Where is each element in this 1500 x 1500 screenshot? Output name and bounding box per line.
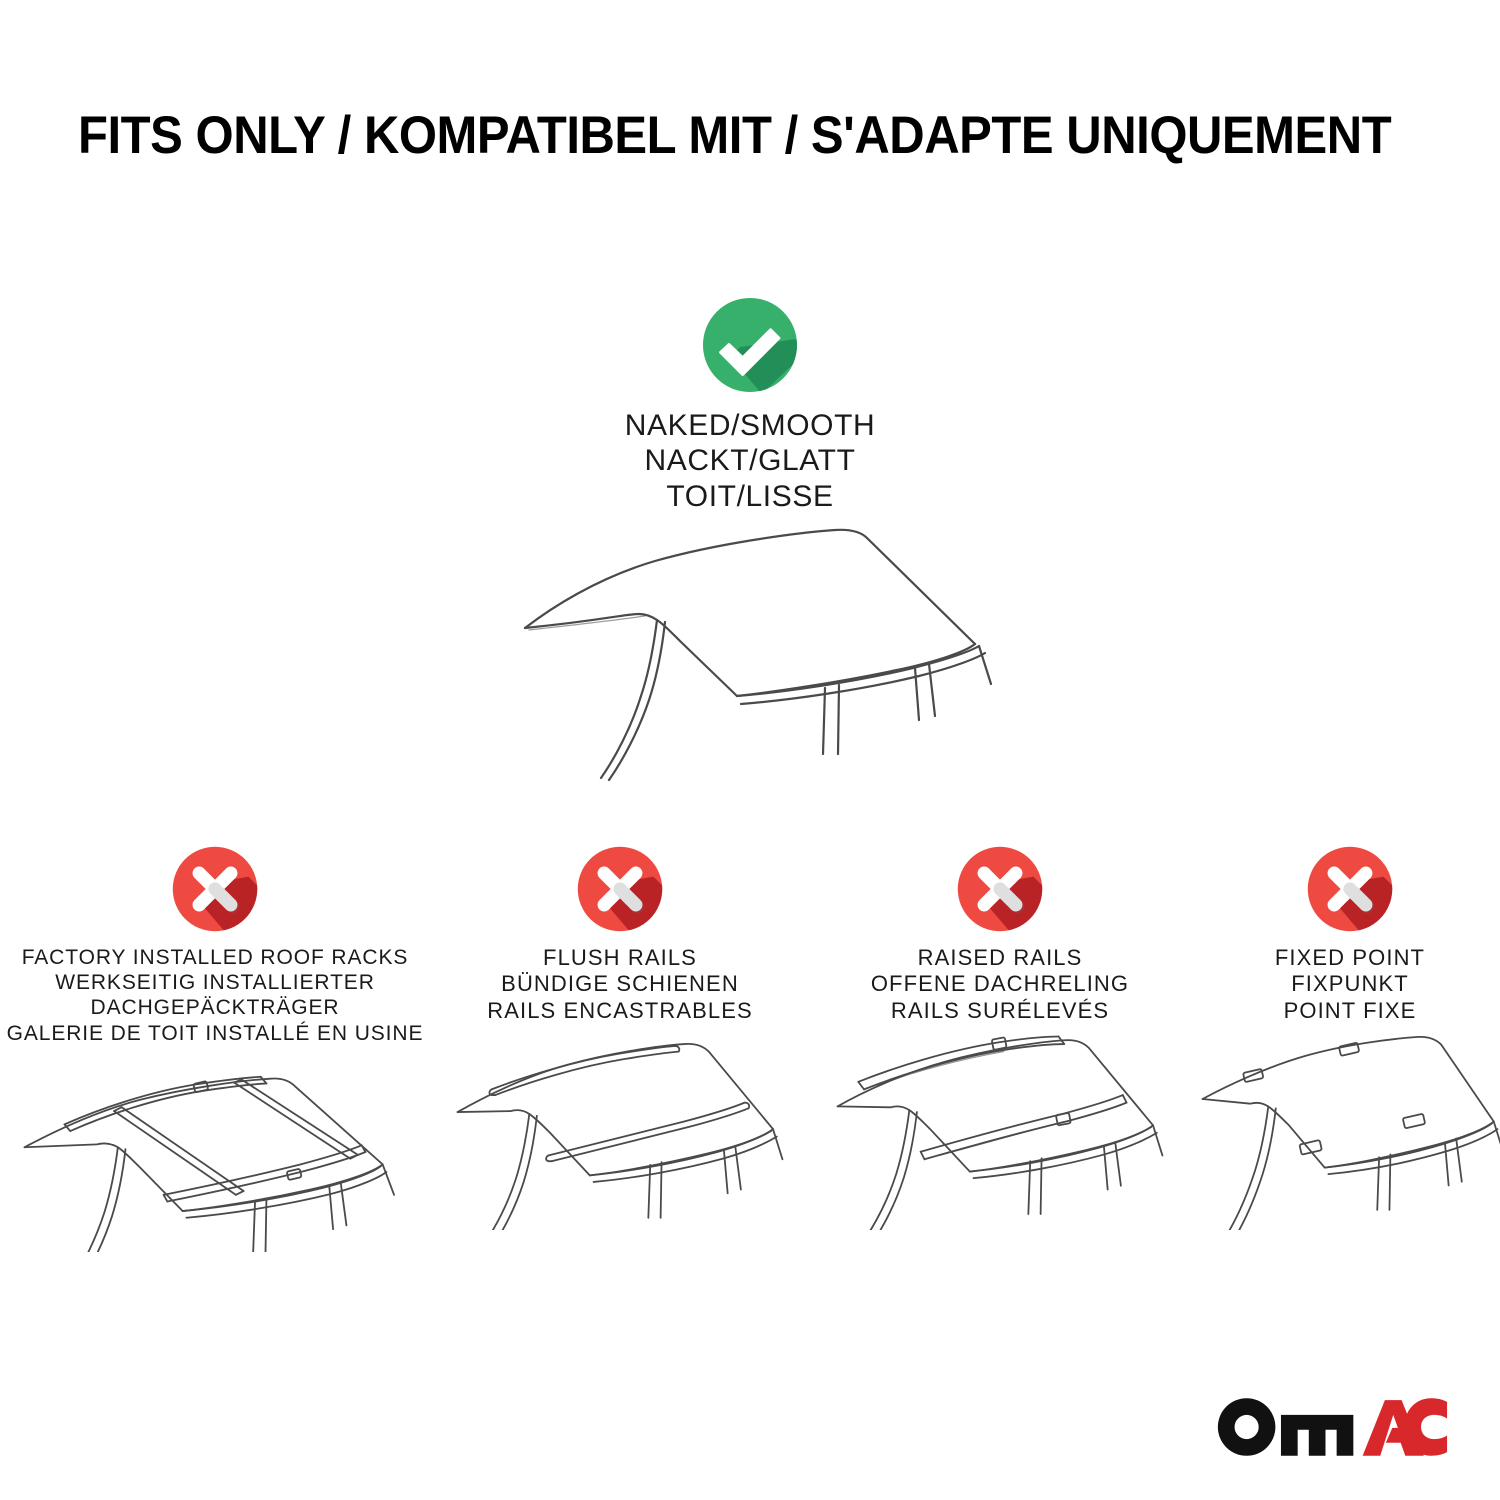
incompatible-section: FACTORY INSTALLED ROOF RACKS WERKSEITIG … [0, 845, 1500, 1265]
cross-mark-icon [576, 845, 664, 933]
compatible-caption: NAKED/SMOOTH NACKT/GLATT TOIT/LISSE [0, 408, 1500, 514]
cross-mark-icon [1306, 845, 1394, 933]
compatible-caption-line-2: NACKT/GLATT [0, 443, 1500, 478]
incompatible-item-fixed-point: FIXED POINT FIXPUNKT POINT FIXE [1195, 845, 1500, 1230]
page-title: FITS ONLY / KOMPATIBEL MIT / S'ADAPTE UN… [78, 108, 1391, 164]
incompatible-item-flush-rails: FLUSH RAILS BÜNDIGE SCHIENEN RAILS ENCAS… [450, 845, 790, 1230]
incompatible-item-raised-rails: RAISED RAILS OFFENE DACHRELING RAILS SUR… [830, 845, 1170, 1230]
cross-mark-icon [171, 845, 259, 933]
omac-logo: OMAC [1216, 1396, 1448, 1458]
incompatible-caption: FLUSH RAILS BÜNDIGE SCHIENEN RAILS ENCAS… [450, 945, 790, 1024]
check-mark-icon [701, 296, 799, 394]
incompatible-caption: FIXED POINT FIXPUNKT POINT FIXE [1195, 945, 1500, 1024]
compatible-section: NAKED/SMOOTH NACKT/GLATT TOIT/LISSE [0, 296, 1500, 514]
car-roof-flush-rails-illustration [450, 1030, 790, 1230]
incompatible-caption: FACTORY INSTALLED ROOF RACKS WERKSEITIG … [5, 945, 425, 1046]
car-roof-factory-roof-racks-illustration [5, 1052, 425, 1252]
compatible-caption-line-3: TOIT/LISSE [0, 479, 1500, 514]
car-roof-raised-rails-illustration [830, 1030, 1170, 1230]
cross-mark-icon [956, 845, 1044, 933]
incompatible-caption: RAISED RAILS OFFENE DACHRELING RAILS SUR… [830, 945, 1170, 1024]
car-roof-fixed-point-illustration [1195, 1030, 1500, 1230]
compatible-caption-line-1: NAKED/SMOOTH [0, 408, 1500, 443]
incompatible-item-factory-installed-roof-racks: FACTORY INSTALLED ROOF RACKS WERKSEITIG … [5, 845, 425, 1252]
car-roof-naked-smooth-illustration [505, 516, 1005, 801]
